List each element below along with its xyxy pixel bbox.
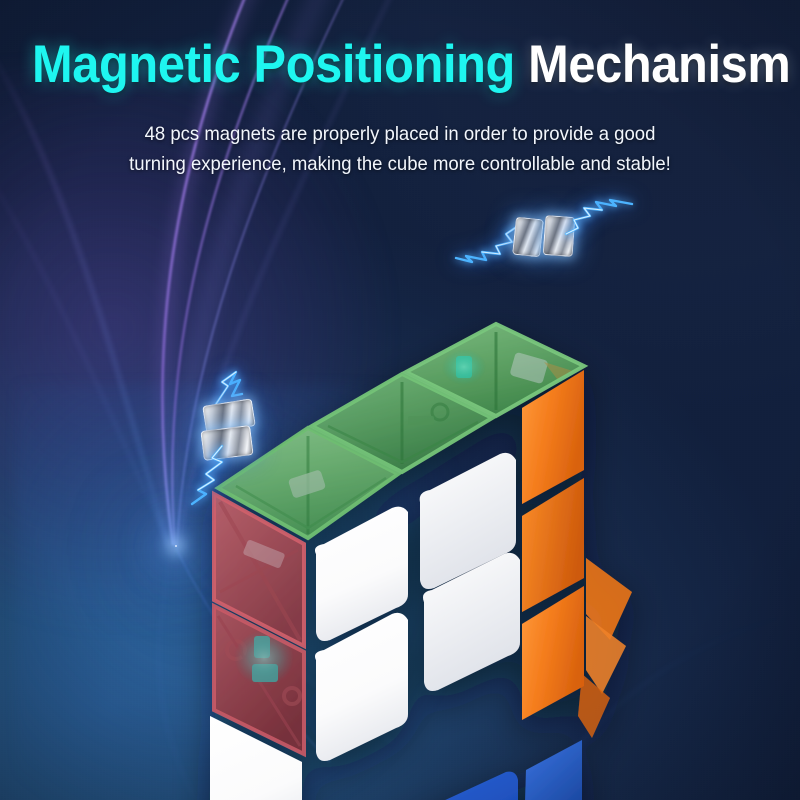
product-banner: Magnetic Positioning Mechanism 48 pcs ma… — [0, 0, 800, 800]
magnet-cylinder-right — [543, 215, 576, 257]
page-title: Magnetic Positioning Mechanism — [32, 38, 768, 91]
headline-white-part: Mechanism — [515, 35, 790, 94]
subtitle-line-2: turning experience, making the cube more… — [106, 150, 695, 180]
cube-facet-blue-right-upper — [524, 740, 582, 800]
magnet-cylinder-bottom — [200, 425, 253, 461]
cube-facet-blue-front-right — [419, 772, 518, 800]
speed-cube-illustration — [110, 228, 800, 800]
magnet-pair-left — [186, 378, 278, 490]
magnet-cylinder-left — [512, 217, 544, 258]
headline-cyan-part: Magnetic Positioning — [32, 35, 515, 94]
subtitle: 48 pcs magnets are properly placed in or… — [106, 120, 695, 179]
subtitle-line-1: 48 pcs magnets are properly placed in or… — [106, 120, 695, 150]
magnet-pair-top — [488, 196, 608, 270]
